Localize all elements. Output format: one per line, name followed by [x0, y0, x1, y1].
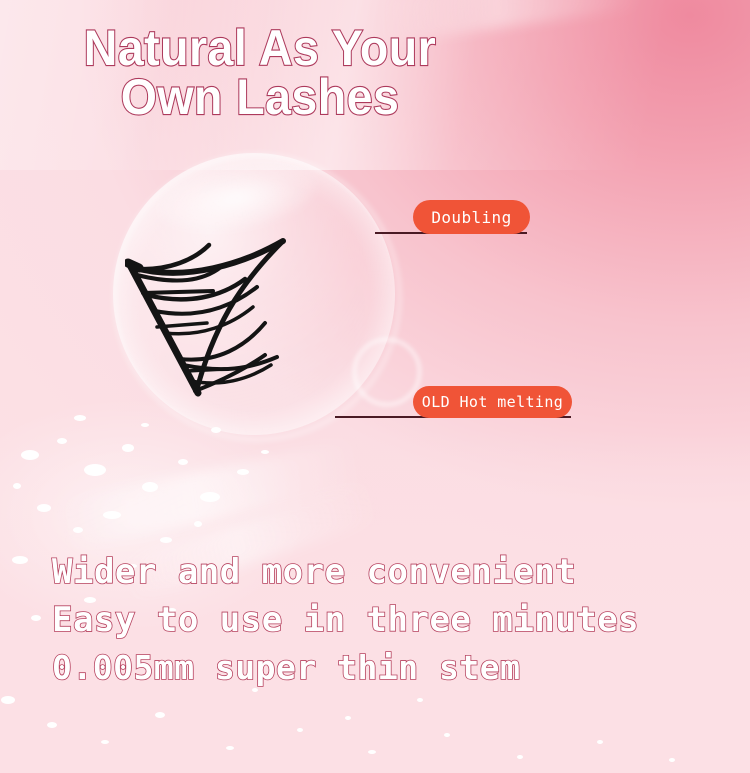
feature-list: Wider and more convenient Easy to use in… — [0, 548, 750, 692]
background-streak — [120, 481, 380, 601]
page-title: Natural As Your Own Lashes — [18, 24, 502, 122]
callout-badge-doubling[interactable]: Doubling — [413, 200, 530, 234]
feature-line-3: 0.005mm super thin stem — [52, 644, 750, 692]
lash-fan-icon — [125, 223, 355, 423]
feature-line-1: Wider and more convenient — [52, 548, 750, 596]
bubble-small — [353, 338, 421, 406]
background-streak — [378, 0, 642, 44]
feature-line-2: Easy to use in three minutes — [52, 596, 750, 644]
background-streak — [58, 439, 362, 550]
background-wash-bottom — [0, 430, 750, 773]
promo-banner: Natural As Your Own Lashes — [0, 0, 750, 773]
bubble-illustration — [105, 145, 405, 445]
callout-badge-old-hot-melting[interactable]: OLD Hot melting — [413, 386, 572, 418]
